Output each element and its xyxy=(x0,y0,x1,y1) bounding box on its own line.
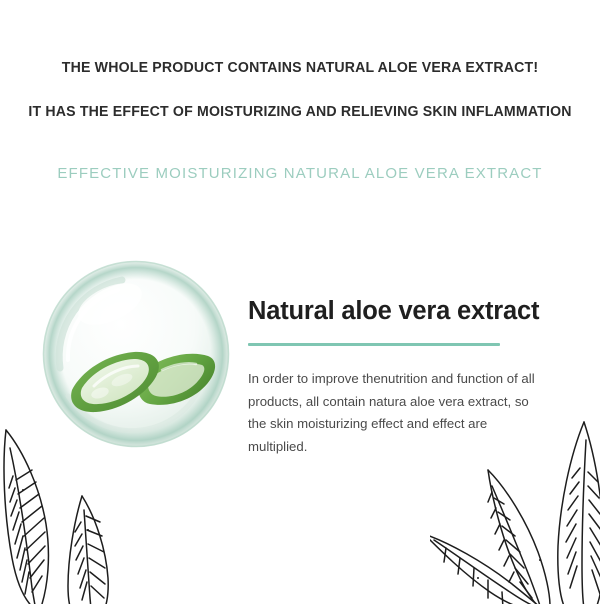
leaf-illustration-left xyxy=(0,418,186,604)
feature-title: Natural aloe vera extract xyxy=(248,296,548,326)
leaf-illustration-right xyxy=(430,412,600,604)
headline-block: THE WHOLE PRODUCT CONTAINS NATURAL ALOE … xyxy=(0,58,600,122)
poster-canvas: THE WHOLE PRODUCT CONTAINS NATURAL ALOE … xyxy=(0,0,600,600)
subheadline: EFFECTIVE MOISTURIZING NATURAL ALOE VERA… xyxy=(0,165,600,182)
headline-primary: THE WHOLE PRODUCT CONTAINS NATURAL ALOE … xyxy=(21,58,579,78)
title-underline-rule xyxy=(248,343,500,346)
headline-secondary: IT HAS THE EFFECT OF MOISTURIZING AND RE… xyxy=(21,102,579,122)
